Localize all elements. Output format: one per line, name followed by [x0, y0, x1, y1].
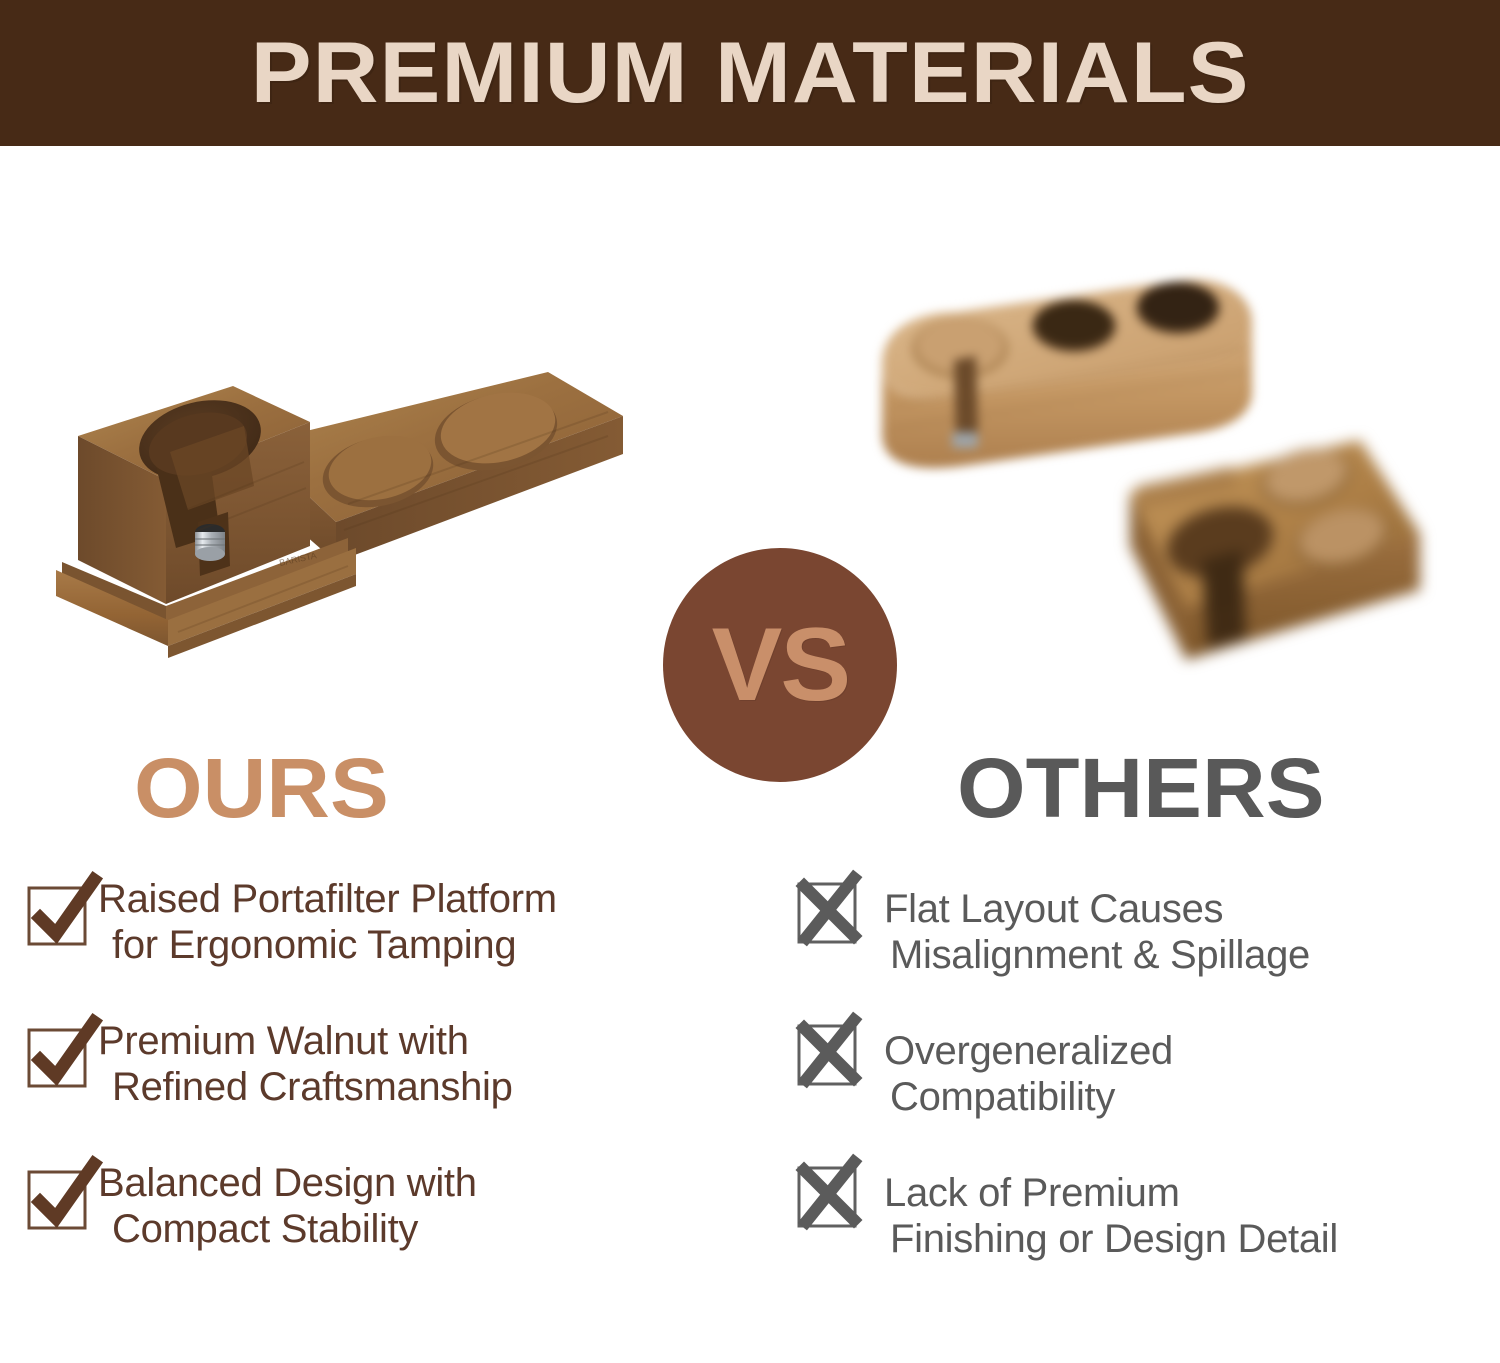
check-in-box-icon	[28, 884, 92, 948]
vs-label: VS	[711, 606, 848, 725]
list-item-text: Flat Layout Causes Misalignment & Spilla…	[884, 872, 1310, 979]
list-item-text: Lack of Premium Finishing or Design Deta…	[884, 1156, 1338, 1263]
ours-product-image: BARISTA	[48, 294, 628, 664]
list-item: Overgeneralized Compatibility	[798, 1014, 1500, 1122]
ours-feature-list: Raised Portafilter Platform for Ergonomi…	[0, 872, 700, 1264]
list-item: Flat Layout Causes Misalignment & Spilla…	[798, 872, 1500, 980]
check-in-box-icon	[28, 1168, 92, 1232]
list-item: Raised Portafilter Platform for Ergonomi…	[28, 872, 700, 980]
page-title: PREMIUM MATERIALS	[251, 24, 1250, 123]
list-item-text: Balanced Design with Compact Stability	[98, 1156, 477, 1253]
others-feature-list: Flat Layout Causes Misalignment & Spilla…	[760, 872, 1500, 1264]
list-item-text: Overgeneralized Compatibility	[884, 1014, 1173, 1121]
list-item: Balanced Design with Compact Stability	[28, 1156, 700, 1264]
others-heading: OTHERS	[957, 746, 1500, 830]
list-item-text: Premium Walnut with Refined Craftsmanshi…	[98, 1014, 513, 1111]
check-in-box-icon	[28, 1026, 92, 1090]
list-item-text: Raised Portafilter Platform for Ergonomi…	[98, 872, 557, 969]
list-item: Premium Walnut with Refined Craftsmanshi…	[28, 1014, 700, 1122]
column-others: OTHERS Flat Layout Causes Misalignment &…	[760, 746, 1500, 1298]
cross-in-box-icon	[798, 1026, 862, 1090]
list-item: Lack of Premium Finishing or Design Deta…	[798, 1156, 1500, 1264]
others-product-image-2	[1090, 426, 1490, 696]
ours-heading: OURS	[134, 746, 728, 830]
header-banner: PREMIUM MATERIALS	[0, 0, 1500, 146]
product-showcase: BARISTA VS	[0, 146, 1500, 746]
cross-in-box-icon	[798, 1168, 862, 1232]
comparison-columns: OURS Raised Portafilter Platform for Erg…	[0, 746, 1500, 1363]
cross-in-box-icon	[798, 884, 862, 948]
column-ours: OURS Raised Portafilter Platform for Erg…	[0, 746, 700, 1298]
